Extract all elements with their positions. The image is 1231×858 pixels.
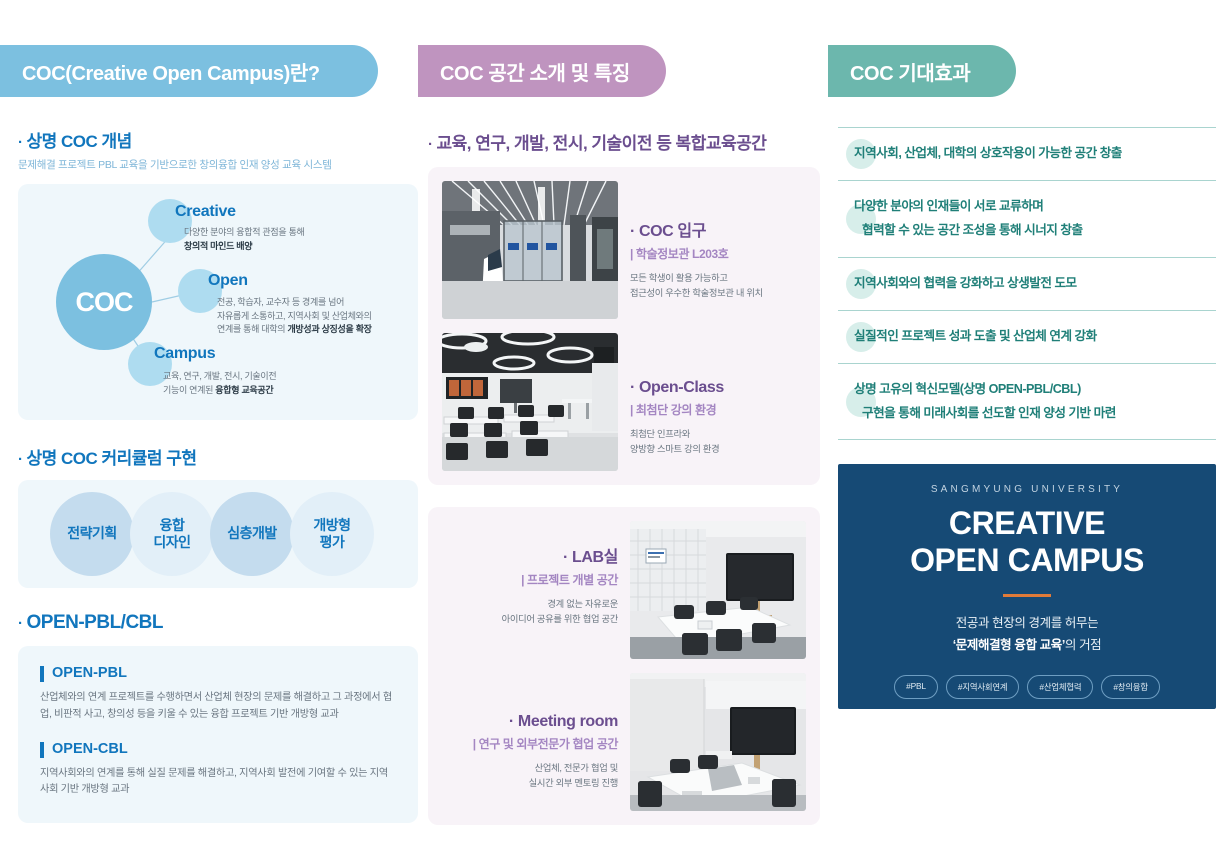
open-class-title: · Open-Class [630, 379, 806, 397]
section-title-coc-concept: · 상명 COC 개념 [18, 127, 418, 152]
section-title-curriculum: · 상명 COC 커리큘럼 구현 [18, 444, 418, 469]
curriculum-circle-1: 전략기획 [50, 492, 134, 576]
promo-title-line1: CREATIVE [854, 505, 1200, 541]
node-label-open: Open [208, 272, 248, 290]
lab-desc-line2: 아이디어 공유를 위한 협업 공간 [502, 614, 618, 624]
infographic-page: COC(Creative Open Campus)란? · 상명 COC 개념 … [0, 0, 1231, 858]
open-desc-line1: 전공, 학습자, 교수자 등 경계를 넘어 [217, 297, 344, 307]
space-card-group-2: · LAB실 | 프로젝트 개별 공간 경계 없는 자유로운 아이디어 공유를 … [428, 507, 820, 825]
photo-meeting-illustration [630, 673, 806, 811]
coc-entrance-photo [442, 181, 618, 319]
promo-sub-line2-bold: ‘문제해결형 융합 교육’ [953, 638, 1065, 652]
lab-title: · LAB실 [442, 543, 618, 567]
bullet-dot: · [428, 137, 433, 152]
photo-classroom-illustration [442, 333, 618, 471]
effect-5-line2: 구현을 통해 미래사회를 선도할 인재 양성 기반 마련 [838, 402, 1216, 426]
curriculum-label-1: 전략기획 [67, 525, 117, 542]
coc-center-circle: COC [56, 254, 152, 350]
curriculum-label-2b: 디자인 [153, 534, 190, 551]
lab-desc: 경계 없는 자유로운 아이디어 공유를 위한 협업 공간 [442, 597, 618, 627]
promo-tag-4[interactable]: #창의융합 [1101, 675, 1159, 699]
bullet-dot: · [18, 616, 23, 631]
space-card-group-1: · COC 입구 | 학술정보관 L203호 모든 학생이 활용 가능하고 접근… [428, 167, 820, 485]
effect-item-1: 지역사회, 산업체, 대학의 상호작용이 가능한 공간 창출 [838, 127, 1216, 180]
section-title-text: 상명 COC 개념 [27, 127, 132, 152]
header-coc-space: COC 공간 소개 및 특징 [418, 45, 666, 97]
open-pbl-heading: OPEN-PBL [40, 666, 396, 682]
open-cbl-block: OPEN-CBL 지역사회와의 연계를 통해 실질 문제를 해결하고, 지역사회… [40, 742, 396, 800]
expected-effects-list: 지역사회, 산업체, 대학의 상호작용이 가능한 공간 창출 다양한 분야의 인… [838, 127, 1216, 440]
curriculum-label-2a: 융합 [153, 517, 190, 534]
effect-4-line1: 실질적인 프로젝트 성과 도출 및 산업체 연계 강화 [838, 325, 1216, 349]
node-desc-campus: 교육, 연구, 개발, 전시, 기술이전 기능이 연계된 융합형 교육공간 [163, 370, 276, 397]
column-middle: COC 공간 소개 및 특징 · 교육, 연구, 개발, 전시, 기술이전 등 … [428, 0, 820, 825]
lab-desc-line1: 경계 없는 자유로운 [547, 599, 618, 609]
creative-desc-line2: 창의적 마인드 배양 [184, 241, 252, 251]
promo-title-line2: OPEN CAMPUS [854, 542, 1200, 578]
open-class-subtitle: | 최첨단 강의 환경 [630, 401, 806, 418]
header-coc-definition: COC(Creative Open Campus)란? [0, 45, 378, 97]
curriculum-circle-4: 개방형 평가 [290, 492, 374, 576]
open-cbl-heading: OPEN-CBL [40, 742, 396, 758]
curriculum-label-3: 심층개발 [227, 525, 277, 542]
node-desc-creative: 다양한 분야의 융합적 관점을 통해 창의적 마인드 배양 [184, 226, 305, 253]
lab-text: · LAB실 | 프로젝트 개별 공간 경계 없는 자유로운 아이디어 공유를 … [442, 521, 618, 659]
curriculum-circle-3: 심층개발 [210, 492, 294, 576]
coc-entrance-desc-line1: 모든 학생이 활용 가능하고 [630, 273, 728, 283]
open-class-desc: 최첨단 인프라와 양방향 스마트 강의 환경 [630, 427, 806, 457]
header-coc-effects: COC 기대효과 [828, 45, 1016, 97]
open-class-text: · Open-Class | 최첨단 강의 환경 최첨단 인프라와 양방향 스마… [630, 333, 806, 471]
promo-tag-1[interactable]: #PBL [894, 675, 938, 699]
space-item-coc-entrance: · COC 입구 | 학술정보관 L203호 모든 학생이 활용 가능하고 접근… [442, 181, 806, 319]
open-class-desc-line2: 양방향 스마트 강의 환경 [630, 444, 719, 454]
node-label-campus: Campus [154, 345, 215, 363]
meeting-room-desc: 산업체, 전문가 협업 및 실시간 외부 멘토링 진행 [442, 761, 618, 791]
promo-university-name: SANGMYUNG UNIVERSITY [854, 484, 1200, 495]
photo-lab-illustration [630, 521, 806, 659]
section-subtitle-coc-concept: 문제해결 프로젝트 PBL 교육을 기반으로한 창의융합 인재 양성 교육 시스… [18, 157, 418, 172]
effect-2-line2: 협력할 수 있는 공간 조성을 통해 시너지 창출 [838, 219, 1216, 243]
curriculum-circle-2: 융합 디자인 [130, 492, 214, 576]
effect-item-5: 상명 고유의 혁신모델(상명 OPEN-PBL/CBL) 구현을 통해 미래사회… [838, 363, 1216, 441]
node-label-creative: Creative [175, 203, 236, 221]
open-class-desc-line1: 최첨단 인프라와 [630, 429, 690, 439]
promo-card: SANGMYUNG UNIVERSITY CREATIVE OPEN CAMPU… [838, 464, 1216, 709]
meeting-room-subtitle: | 연구 및 외부전문가 협업 공간 [442, 735, 618, 752]
meeting-room-title: · Meeting room [442, 713, 618, 731]
promo-subtitle: 전공과 현장의 경계를 허무는 ‘문제해결형 융합 교육’의 거점 [854, 613, 1200, 657]
coc-concept-diagram: COC Creative 다양한 분야의 융합적 관점을 통해 창의적 마인드 … [18, 184, 418, 420]
column-right: COC 기대효과 지역사회, 산업체, 대학의 상호작용이 가능한 공간 창출 … [838, 0, 1216, 709]
promo-tag-3[interactable]: #산업체협력 [1027, 675, 1093, 699]
open-desc-line3-pre: 연계를 통해 대학의 [217, 324, 287, 334]
bullet-dot: · [18, 452, 23, 467]
curriculum-label-4a: 개방형 [313, 517, 350, 534]
lab-room-photo [630, 521, 806, 659]
open-pbl-cbl-panel: OPEN-PBL 산업체와의 연계 프로젝트를 수행하면서 산업체 현장의 문제… [18, 646, 418, 823]
coc-entrance-title: · COC 입구 [630, 217, 806, 241]
section-title-open-pbl-cbl: · OPEN-PBL/CBL [18, 612, 418, 634]
promo-accent-rule [1003, 594, 1051, 597]
section-title-text: 상명 COC 커리큘럼 구현 [27, 444, 197, 469]
column-left: COC(Creative Open Campus)란? · 상명 COC 개념 … [18, 0, 418, 823]
meeting-room-desc-line2: 실시간 외부 멘토링 진행 [529, 778, 618, 788]
promo-sub-line2-rest: 의 거점 [1065, 638, 1101, 652]
bullet-dot: · [18, 135, 23, 150]
open-pbl-block: OPEN-PBL 산업체와의 연계 프로젝트를 수행하면서 산업체 현장의 문제… [40, 666, 396, 724]
open-desc-line2: 자유롭게 소통하고, 지역사회 및 산업체와의 [217, 311, 372, 321]
coc-entrance-text: · COC 입구 | 학술정보관 L203호 모든 학생이 활용 가능하고 접근… [630, 181, 806, 319]
promo-sub-line2: ‘문제해결형 융합 교육’의 거점 [854, 635, 1200, 657]
spacer [40, 724, 396, 742]
coc-entrance-desc: 모든 학생이 활용 가능하고 접근성이 우수한 학술정보관 내 위치 [630, 271, 806, 301]
space-item-meeting-room: · Meeting room | 연구 및 외부전문가 협업 공간 산업체, 전… [442, 673, 806, 811]
space-item-open-class: · Open-Class | 최첨단 강의 환경 최첨단 인프라와 양방향 스마… [442, 333, 806, 471]
open-pbl-body: 산업체와의 연계 프로젝트를 수행하면서 산업체 현장의 문제를 해결하고 그 … [40, 690, 396, 724]
space-item-lab: · LAB실 | 프로젝트 개별 공간 경계 없는 자유로운 아이디어 공유를 … [442, 521, 806, 659]
campus-desc-line2-bold: 융합형 교육공간 [215, 385, 273, 395]
curriculum-circles: 전략기획 융합 디자인 심층개발 개방형 평가 [18, 480, 418, 588]
promo-tag-list: #PBL #지역사회연계 #산업체협력 #창의융합 [854, 675, 1200, 699]
meeting-room-desc-line1: 산업체, 전문가 협업 및 [535, 763, 618, 773]
section-title-text: 교육, 연구, 개발, 전시, 기술이전 등 복합교육공간 [437, 129, 767, 154]
effect-1-line1: 지역사회, 산업체, 대학의 상호작용이 가능한 공간 창출 [838, 142, 1216, 166]
promo-sub-line1: 전공과 현장의 경계를 허무는 [854, 613, 1200, 635]
section-title-text: OPEN-PBL/CBL [27, 612, 164, 634]
promo-title: CREATIVE OPEN CAMPUS [854, 505, 1200, 577]
campus-desc-line2-pre: 기능이 연계된 [163, 385, 215, 395]
open-class-photo [442, 333, 618, 471]
open-cbl-body: 지역사회와의 연계를 통해 실질 문제를 해결하고, 지역사회 발전에 기여할 … [40, 766, 396, 800]
effect-3-line1: 지역사회와의 협력을 강화하고 상생발전 도모 [838, 272, 1216, 296]
photo-entrance-illustration [442, 181, 618, 319]
meeting-room-photo [630, 673, 806, 811]
effect-item-4: 실질적인 프로젝트 성과 도출 및 산업체 연계 강화 [838, 310, 1216, 363]
curriculum-label-4b: 평가 [313, 534, 350, 551]
campus-desc-line1: 교육, 연구, 개발, 전시, 기술이전 [163, 371, 276, 381]
creative-desc-line1: 다양한 분야의 융합적 관점을 통해 [184, 227, 305, 237]
meeting-room-text: · Meeting room | 연구 및 외부전문가 협업 공간 산업체, 전… [442, 673, 618, 811]
effect-item-2: 다양한 분야의 인재들이 서로 교류하며 협력할 수 있는 공간 조성을 통해 … [838, 180, 1216, 257]
lab-subtitle: | 프로젝트 개별 공간 [442, 571, 618, 588]
effect-5-line1: 상명 고유의 혁신모델(상명 OPEN-PBL/CBL) [838, 378, 1216, 402]
node-desc-open: 전공, 학습자, 교수자 등 경계를 넘어 자유롭게 소통하고, 지역사회 및 … [217, 296, 372, 337]
effect-item-3: 지역사회와의 협력을 강화하고 상생발전 도모 [838, 257, 1216, 310]
section-title-complex-space: · 교육, 연구, 개발, 전시, 기술이전 등 복합교육공간 [428, 129, 820, 154]
coc-entrance-subtitle: | 학술정보관 L203호 [630, 245, 806, 262]
promo-tag-2[interactable]: #지역사회연계 [946, 675, 1020, 699]
effect-2-line1: 다양한 분야의 인재들이 서로 교류하며 [838, 195, 1216, 219]
open-desc-line3-bold: 개방성과 상징성을 확장 [287, 324, 371, 334]
coc-entrance-desc-line2: 접근성이 우수한 학술정보관 내 위치 [630, 288, 763, 298]
